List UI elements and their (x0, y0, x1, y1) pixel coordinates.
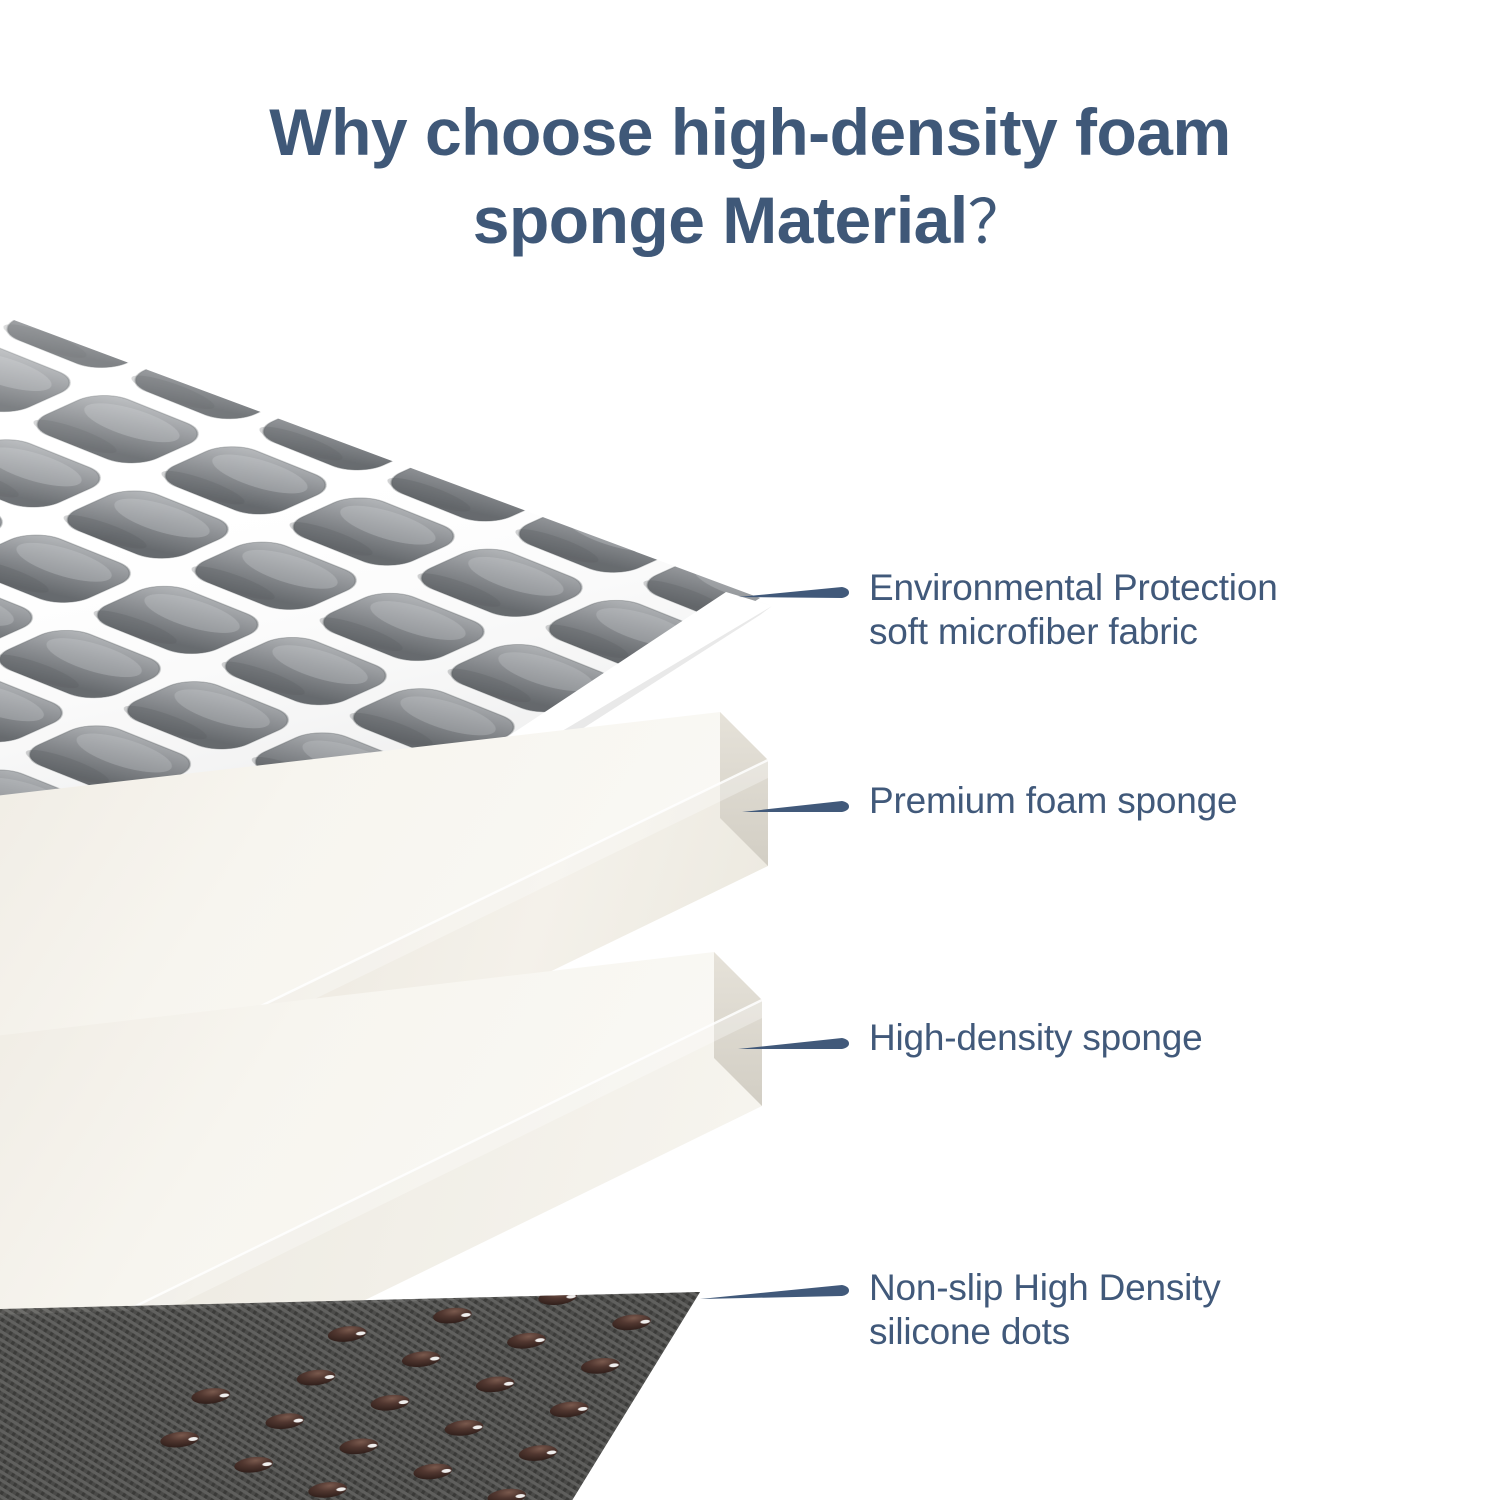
infographic-canvas: Why choose high-density foam sponge Mate… (0, 0, 1500, 1500)
leader-line-3 (700, 1285, 849, 1299)
callout-label-microfiber: Environmental Protection soft microfiber… (869, 566, 1278, 654)
callout-label-nonslip: Non-slip High Density silicone dots (869, 1266, 1221, 1354)
callout-label-premium-foam: Premium foam sponge (869, 779, 1237, 823)
leader-lines (700, 587, 849, 1299)
exploded-layer-illustration (0, 0, 1500, 1500)
callout-label-high-density: High-density sponge (869, 1016, 1203, 1060)
leader-line-0 (738, 587, 849, 598)
